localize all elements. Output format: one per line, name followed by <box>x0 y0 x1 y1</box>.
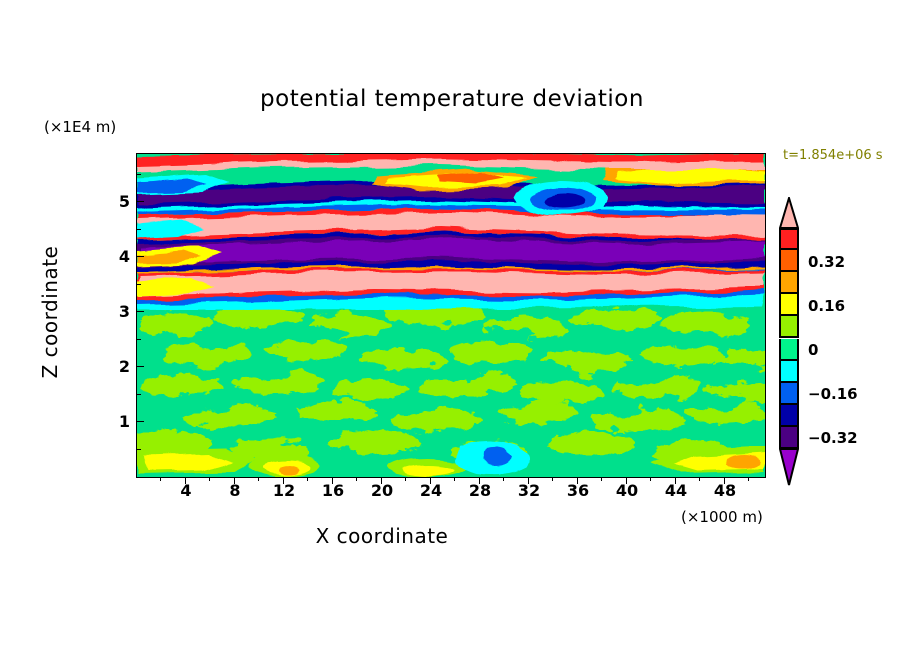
x-tick-minor <box>650 477 651 481</box>
colorbar-band <box>779 361 799 383</box>
y-tick-label: 5 <box>100 192 130 211</box>
y-tick-label: 3 <box>100 302 130 321</box>
colorbar-band <box>779 383 799 405</box>
colorbar-band <box>779 405 799 427</box>
y-tick-minor <box>137 229 141 230</box>
y-tick-minor <box>137 284 141 285</box>
time-annotation: t=1.854e+06 s <box>783 148 883 163</box>
colorbar-arrow-bottom <box>779 448 799 486</box>
x-tick-label: 48 <box>705 481 745 500</box>
x-tick-label: 16 <box>313 481 353 500</box>
x-tick-label: 32 <box>509 481 549 500</box>
page-title: potential temperature deviation <box>0 86 904 112</box>
y-tick-minor <box>137 174 141 175</box>
y-tick <box>137 311 144 312</box>
colorbar-arrow-top <box>779 197 799 229</box>
x-tick-label: 28 <box>460 481 500 500</box>
x-tick-minor <box>307 477 308 481</box>
y-tick <box>137 366 144 367</box>
x-tick-label: 20 <box>362 481 402 500</box>
x-tick-label: 36 <box>558 481 598 500</box>
colorbar-tick-label: −0.32 <box>808 429 858 447</box>
contour-plot-area[interactable] <box>136 153 766 478</box>
figure-canvas: potential temperature deviation (×1E4 m)… <box>0 0 904 654</box>
x-tick-label: 24 <box>411 481 451 500</box>
colorbar-tick-label: 0.32 <box>808 253 845 271</box>
x-axis-unit-label: (×1000 m) <box>681 508 763 526</box>
y-tick <box>137 256 144 257</box>
y-tick-minor <box>137 449 141 450</box>
y-tick <box>137 421 144 422</box>
x-tick-label: 4 <box>166 481 206 500</box>
colorbar-tick-label: −0.16 <box>808 385 858 403</box>
x-tick-minor <box>405 477 406 481</box>
y-tick-label: 4 <box>100 247 130 266</box>
x-tick-minor <box>258 477 259 481</box>
x-tick-minor <box>209 477 210 481</box>
y-tick-label: 1 <box>100 412 130 431</box>
x-tick-minor <box>454 477 455 481</box>
x-tick-label: 40 <box>607 481 647 500</box>
x-tick-minor <box>748 477 749 481</box>
colorbar-band <box>779 294 799 316</box>
colorbar-band <box>779 272 799 294</box>
colorbar[interactable] <box>779 228 799 449</box>
x-tick-minor <box>356 477 357 481</box>
contour-field <box>137 154 765 477</box>
x-tick-minor <box>601 477 602 481</box>
x-axis-title: X coordinate <box>0 524 764 548</box>
y-tick-minor <box>137 394 141 395</box>
x-tick-label: 12 <box>264 481 304 500</box>
colorbar-tick-label: 0 <box>808 341 818 359</box>
y-tick <box>137 201 144 202</box>
colorbar-band <box>779 339 799 361</box>
colorbar-band <box>779 427 799 449</box>
y-tick-label: 2 <box>100 357 130 376</box>
x-tick-label: 44 <box>656 481 696 500</box>
colorbar-tick-label: 0.16 <box>808 297 845 315</box>
x-tick-minor <box>503 477 504 481</box>
x-tick-label: 8 <box>215 481 255 500</box>
x-tick-minor <box>699 477 700 481</box>
y-axis-unit-label: (×1E4 m) <box>44 118 116 136</box>
colorbar-band <box>779 228 799 250</box>
colorbar-band <box>779 316 799 338</box>
x-tick-minor <box>160 477 161 481</box>
x-tick-minor <box>552 477 553 481</box>
colorbar-band <box>779 250 799 272</box>
y-tick-minor <box>137 339 141 340</box>
y-axis-title: Z coordinate <box>38 232 62 392</box>
